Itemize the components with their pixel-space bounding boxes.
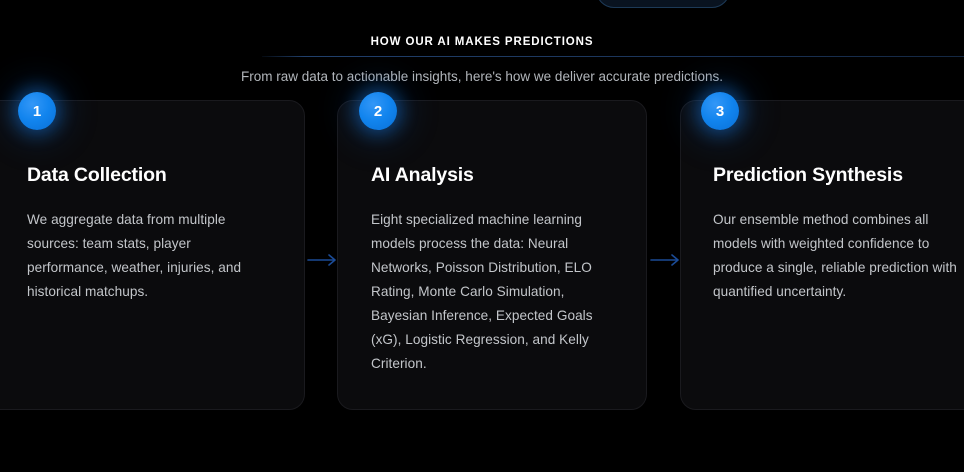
step-card-2-body: Eight specialized machine learning model… (371, 208, 618, 376)
step-number-badge-3-label: 3 (716, 104, 724, 119)
step-card-3-body: Our ensemble method combines all models … (713, 208, 961, 304)
section-header: HOW OUR AI MAKES PREDICTIONS (0, 34, 964, 50)
arrow-right-icon (650, 252, 684, 268)
section-title: HOW OUR AI MAKES PREDICTIONS (0, 34, 964, 50)
step-number-badge-1: 1 (18, 92, 56, 130)
step-card-2-content: AI Analysis Eight specialized machine le… (338, 101, 646, 376)
header-divider (262, 56, 964, 57)
step-card-3-content: Prediction Synthesis Our ensemble method… (681, 101, 964, 304)
step-card-1-content: Data Collection We aggregate data from m… (0, 101, 304, 304)
section-eyebrow-pill (596, 0, 730, 8)
how-it-works-section: HOW OUR AI MAKES PREDICTIONS From raw da… (0, 0, 964, 472)
step-number-badge-1-label: 1 (33, 104, 41, 119)
step-number-badge-2-label: 2 (374, 104, 382, 119)
arrow-right-icon (307, 252, 341, 268)
step-number-badge-3: 3 (701, 92, 739, 130)
step-card-2[interactable]: AI Analysis Eight specialized machine le… (337, 100, 647, 410)
step-number-badge-2: 2 (359, 92, 397, 130)
steps-container: Data Collection We aggregate data from m… (0, 100, 964, 410)
step-card-1[interactable]: Data Collection We aggregate data from m… (0, 100, 305, 410)
step-card-1-body: We aggregate data from multiple sources:… (27, 208, 274, 304)
step-card-3[interactable]: Prediction Synthesis Our ensemble method… (680, 100, 964, 410)
section-subtitle: From raw data to actionable insights, he… (0, 68, 964, 86)
step-card-1-title: Data Collection (27, 163, 274, 187)
step-card-2-title: AI Analysis (371, 163, 618, 187)
step-card-3-title: Prediction Synthesis (713, 163, 961, 187)
